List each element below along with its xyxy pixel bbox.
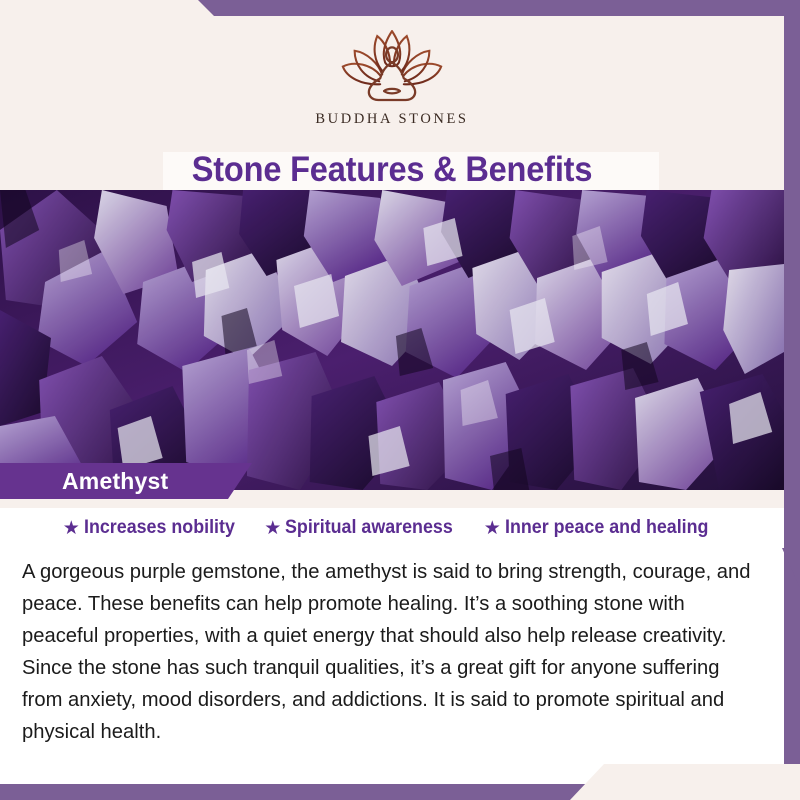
brand-name: BUDDHA STONES <box>315 111 468 128</box>
star-icon: ★ <box>63 519 80 538</box>
star-icon: ★ <box>264 519 281 538</box>
header: BUDDHA STONES Stone Features & Benefits <box>0 16 784 190</box>
lotus-meditation-icon <box>333 26 451 110</box>
benefit-item-2: ★ Inner peace and healing <box>484 517 722 539</box>
amethyst-crystal-cluster-photo <box>0 190 784 490</box>
benefit-label: Increases nobility <box>84 517 235 539</box>
corner-wedge-top-left <box>0 0 232 34</box>
star-icon: ★ <box>484 519 501 538</box>
benefit-item-1: ★ Spiritual awareness <box>264 517 464 539</box>
benefit-label: Inner peace and healing <box>505 517 708 539</box>
frame-notch-right <box>782 548 800 588</box>
page-title: Stone Features & Benefits <box>27 149 756 191</box>
benefits-row: ★ Increases nobility ★ Spiritual awarene… <box>0 517 784 539</box>
corner-wedge-bottom-right <box>570 764 800 800</box>
poster-frame: BUDDHA STONES Stone Features & Benefits <box>0 0 800 800</box>
content-card: BUDDHA STONES Stone Features & Benefits <box>0 16 784 784</box>
benefit-item-0: ★ Increases nobility <box>63 517 245 539</box>
hero-image <box>0 190 784 490</box>
benefit-label: Spiritual awareness <box>285 517 453 539</box>
stone-name-label: Amethyst <box>62 468 168 495</box>
brand-logo: BUDDHA STONES <box>0 26 784 128</box>
stone-description: A gorgeous purple gemstone, the amethyst… <box>22 556 751 748</box>
stone-name-banner: Amethyst <box>0 463 252 499</box>
